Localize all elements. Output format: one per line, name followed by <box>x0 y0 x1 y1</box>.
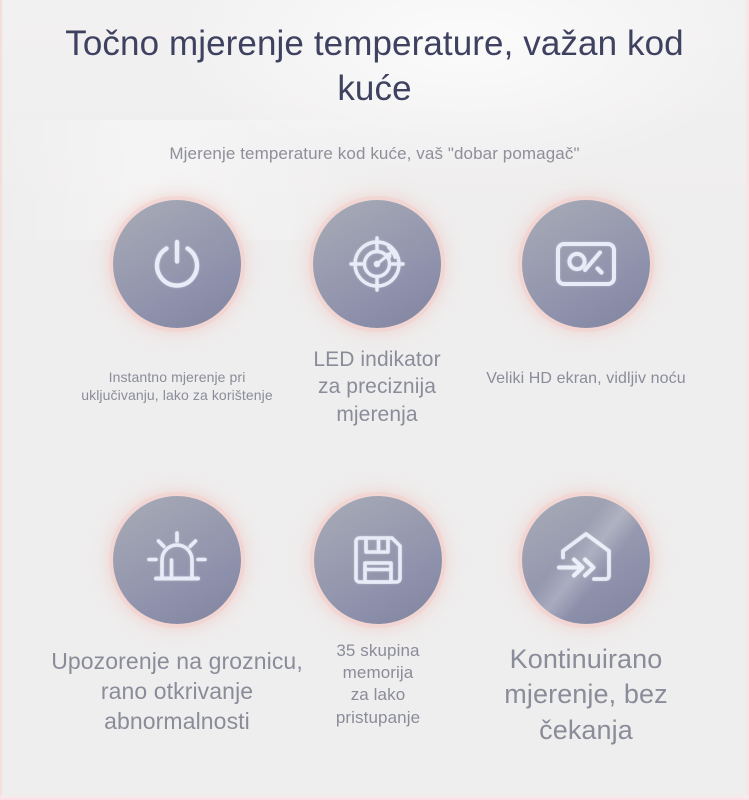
feature-caption: Upozorenje na groznicu, rano otkrivanje … <box>24 646 330 737</box>
hd-screen-icon <box>552 235 620 293</box>
caption-line: rano otkrivanje <box>24 676 330 706</box>
page-subtitle: Mjerenje temperature kod kuće, vaš "doba… <box>55 144 695 164</box>
feature-badge <box>313 200 441 328</box>
power-icon <box>144 231 210 297</box>
caption-line: Kontinuirano <box>452 642 720 678</box>
page-edge-right <box>745 0 749 800</box>
caption-line: pristupanje <box>290 707 466 729</box>
feature-item-memory-groups[interactable]: 35 skupina memorija za lako pristupanje <box>290 496 466 730</box>
caption-line: za lako <box>290 684 466 706</box>
feature-caption: Veliki HD ekran, vidljiv noću <box>452 368 720 389</box>
feature-caption: 35 skupina memorija za lako pristupanje <box>290 640 466 730</box>
page-title: Točno mjerenje temperature, važan kod ku… <box>50 22 700 112</box>
alarm-siren-icon <box>144 528 210 592</box>
caption-line: 35 skupina <box>290 640 466 662</box>
radar-target-icon <box>345 232 409 296</box>
caption-line: abnormalnosti <box>24 706 330 736</box>
floppy-disk-save-icon <box>348 530 408 590</box>
feature-badge <box>522 200 650 328</box>
feature-item-hd-screen[interactable]: Veliki HD ekran, vidljiv noću <box>452 200 720 389</box>
feature-badge <box>314 496 442 624</box>
page-edge-left <box>0 0 3 800</box>
feature-grid: Instantno mjerenje pri uključivanju, lak… <box>0 200 749 462</box>
feature-row-top: Instantno mjerenje pri uključivanju, lak… <box>0 200 749 462</box>
feature-badge <box>113 200 241 328</box>
caption-line: Upozorenje na groznicu, <box>24 646 330 676</box>
caption-line: Veliki HD ekran, vidljiv noću <box>452 368 720 389</box>
feature-item-fever-alert[interactable]: Upozorenje na groznicu, rano otkrivanje … <box>24 496 330 737</box>
page-edge-bottom <box>0 795 749 800</box>
caption-line: memorija <box>290 662 466 684</box>
feature-badge <box>522 496 650 624</box>
feature-caption: Kontinuirano mjerenje, bez čekanja <box>452 642 720 749</box>
product-feature-page: Točno mjerenje temperature, važan kod ku… <box>0 0 749 800</box>
page-header: Točno mjerenje temperature, važan kod ku… <box>0 0 749 164</box>
caption-line: mjerenja <box>258 401 496 429</box>
caption-line: čekanja <box>452 713 720 749</box>
feature-item-continuous-measurement[interactable]: Kontinuirano mjerenje, bez čekanja <box>452 496 720 749</box>
caption-line: mjerenje, bez <box>452 677 720 713</box>
home-fast-entry-icon <box>553 529 619 591</box>
feature-badge <box>113 496 241 624</box>
